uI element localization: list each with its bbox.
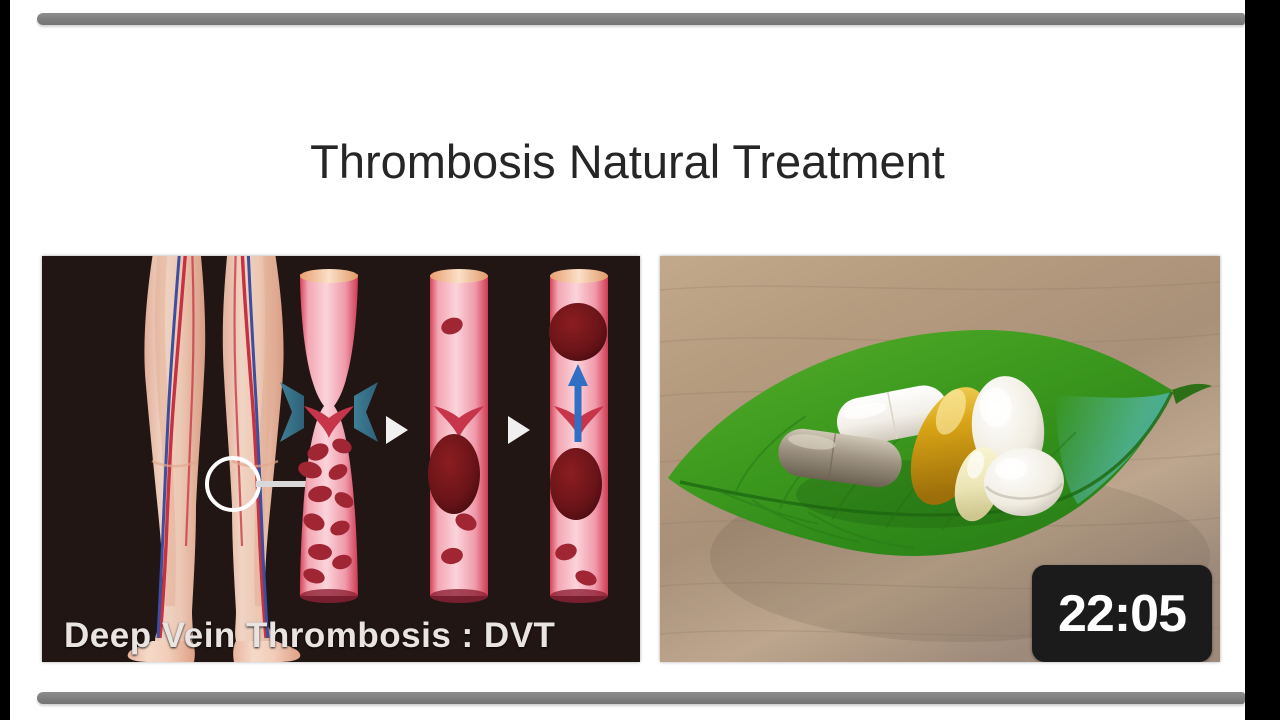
thrombus: [550, 448, 602, 520]
thrombus: [428, 434, 480, 514]
letterbox-left: [0, 0, 10, 720]
vessel-stage-clot-forming: [428, 269, 488, 603]
dvt-caption: Deep Vein Thrombosis : DVT: [42, 616, 640, 656]
embolus: [549, 303, 607, 361]
video-thumbnail-screen: Thrombosis Natural Treatment: [0, 0, 1280, 720]
top-divider-bar: [37, 13, 1245, 25]
dvt-illustration: [42, 256, 640, 662]
media-row: Deep Vein Thrombosis : DVT: [10, 256, 1245, 662]
video-duration-text: 22:05: [1058, 588, 1186, 640]
video-duration-badge: 22:05: [1032, 565, 1212, 662]
vessel-stage-clot-embolus: [549, 269, 608, 603]
bottom-divider-bar: [37, 692, 1245, 704]
letterbox-right: [1245, 0, 1280, 720]
deep-vein-thrombosis-figure[interactable]: Deep Vein Thrombosis : DVT: [42, 256, 640, 662]
supplements-on-leaf-figure[interactable]: 22:05: [660, 256, 1220, 662]
page-title: Thrombosis Natural Treatment: [10, 133, 1245, 191]
content-page: Thrombosis Natural Treatment: [10, 0, 1245, 720]
